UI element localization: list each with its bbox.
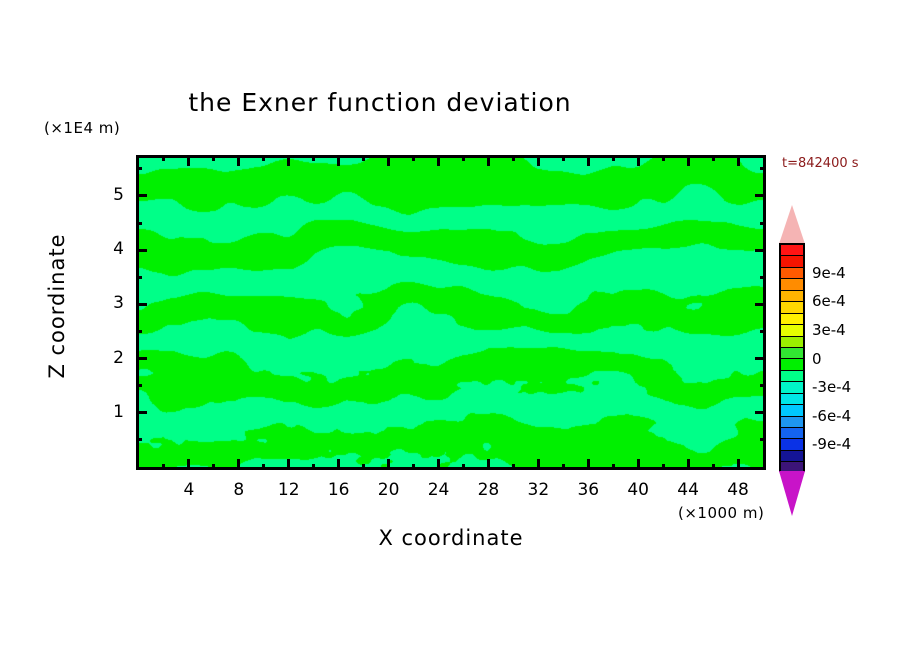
colorbar-tick-label: 9e-4 bbox=[812, 264, 846, 282]
colorbar-tick-label: -6e-4 bbox=[812, 407, 851, 425]
colorbar-tick-label: 6e-4 bbox=[812, 292, 846, 310]
colorbar-tick-labels: 9e-46e-43e-40-3e-4-6e-4-9e-4 bbox=[0, 0, 904, 654]
colorbar-tick-label: -9e-4 bbox=[812, 435, 851, 453]
colorbar-tick-label: 0 bbox=[812, 350, 822, 368]
colorbar-tick-label: -3e-4 bbox=[812, 378, 851, 396]
colorbar-tick-label: 3e-4 bbox=[812, 321, 846, 339]
